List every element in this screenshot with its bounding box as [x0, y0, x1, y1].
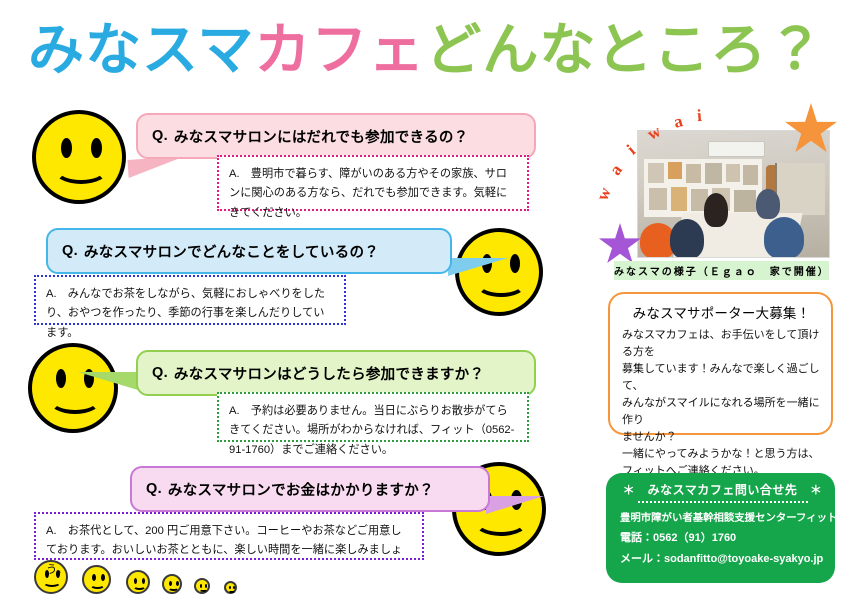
question-label-4: Q. [146, 481, 162, 497]
photo-person-3 [704, 193, 728, 227]
photo-wall-board [644, 159, 762, 217]
speech-tail-2 [448, 258, 508, 276]
question-label-1: Q. [152, 128, 168, 144]
question-bubble-1: Q. みなスマサロンにはだれでも参加できるの？ [136, 113, 536, 159]
supporter-body-line-1: みなスマカフェは、お手伝いをして頂ける方を [622, 327, 821, 361]
contact-email[interactable]: メール：sodanfitto@toyoake-syakyo.jp [620, 549, 825, 569]
page-title-part-1: みなスマ [28, 14, 254, 86]
mini-smiley-5 [194, 578, 210, 594]
contact-title: ＊ みなスマカフェ問い合せ先 ＊ [620, 481, 825, 498]
speech-tail-3 [78, 372, 138, 390]
question-text-1: みなスマサロンにはだれでも参加できるの？ [174, 126, 469, 147]
question-bubble-4: Q. みなスマサロンでお金はかかりますか？ [130, 466, 490, 512]
flyer-page: みなスマカフェどんなところ？ [0, 0, 849, 600]
smiley-mouth [49, 387, 101, 414]
supporter-body-line-3: みんながスマイルになれる場所を一緒に作り [622, 395, 821, 429]
question-text-4: みなスマサロンでお金はかかりますか？ [168, 479, 434, 500]
supporter-body-line-2: 募集しています！みんなで楽しく過ごして、 [622, 361, 821, 395]
supporter-body: みなスマカフェは、お手伝いをして頂ける方を 募集しています！みんなで楽しく過ごし… [622, 327, 821, 480]
smiley-face-1 [32, 110, 126, 204]
photo-person-2 [670, 219, 704, 258]
speech-tail-4 [486, 496, 544, 514]
salon-photo [637, 130, 830, 258]
question-text-3: みなスマサロンはどうしたら参加できますか？ [174, 363, 484, 384]
mini-smiley-3 [126, 570, 150, 594]
mini-smiley-4 [162, 574, 182, 594]
contact-box: ＊ みなスマカフェ問い合せ先 ＊ 豊明市障がい者基幹相談支援センターフィット 電… [606, 473, 835, 583]
page-title: みなスマカフェどんなところ？ [28, 14, 828, 86]
supporter-body-line-4: ませんか？ [622, 429, 821, 446]
answer-box-4: A. お茶代として、200 円ご用意下さい。コーヒーやお茶などご用意しております… [34, 512, 424, 560]
question-bubble-3: Q. みなスマサロンはどうしたら参加できますか？ [136, 350, 536, 396]
mini-smiley-6 [224, 581, 237, 594]
smiley-eye-left [61, 138, 72, 158]
photo-person-5 [764, 217, 804, 258]
contact-organization: 豊明市障がい者基幹相談支援センターフィット [620, 509, 825, 528]
smiley-eye-right [91, 138, 102, 158]
photo-caption: みなスマの様子（Ｅｇａｏ 家で開催） [614, 261, 829, 280]
speech-tail-1 [127, 156, 186, 178]
contact-telephone[interactable]: 電話：0562（91）1760 [620, 528, 825, 548]
salon-photo-image [638, 131, 829, 257]
answer-box-3: A. 予約は必要ありません。当日にぶらりお散歩がてらきてください。場所がわからな… [217, 392, 529, 442]
supporter-recruit-box: みなスマサポーター大募集！ みなスマカフェは、お手伝いをして頂ける方を 募集して… [608, 292, 833, 435]
photo-shelf [775, 163, 825, 215]
page-title-part-3: どんなところ？ [425, 14, 824, 86]
mini-smiley-2 [82, 565, 111, 594]
smiley-eye-left [56, 369, 66, 388]
waiwai-letter-2: a [606, 161, 627, 180]
answer-box-1: A. 豊明市で暮らす、障がいのある方やその家族、サロンに関心のある方なら、だれで… [217, 155, 529, 211]
question-bubble-2: Q. みなスマサロンでどんなことをしているの？ [46, 228, 452, 274]
answer-box-2: A. みんなでお茶をしながら、気軽におしゃべりをしたり、おやつを作ったり、季節の… [34, 275, 346, 325]
question-label-3: Q. [152, 365, 168, 381]
photo-air-conditioner [708, 141, 765, 157]
question-label-2: Q. [62, 243, 78, 259]
question-text-2: みなスマサロンでどんなことをしているの？ [84, 241, 379, 262]
supporter-body-line-5: 一緒にやってみようかな！と思う方は、 [622, 446, 821, 463]
waiwai-letter-1: w [593, 185, 616, 204]
supporter-title: みなスマサポーター大募集！ [622, 302, 821, 322]
photo-person-4 [756, 189, 780, 219]
waiwai-letter-6: i [696, 106, 702, 126]
smiley-mouth [54, 156, 108, 184]
contact-divider [638, 501, 808, 503]
mini-smiley-row [34, 558, 264, 596]
page-title-part-2: カフェ [254, 14, 425, 86]
